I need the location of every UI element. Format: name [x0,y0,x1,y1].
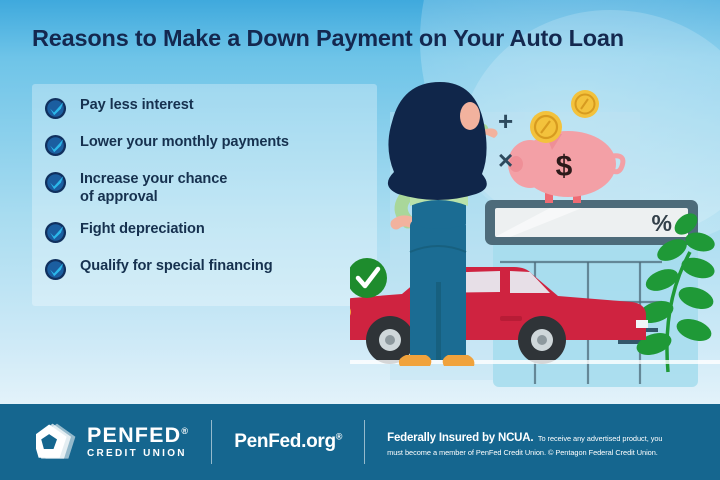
piggy-bank-symbol: $ [556,150,573,183]
footer-bar: PENFED® CREDIT UNION PenFed.org® Federal… [0,404,720,480]
list-item-label: Fight depreciation [80,220,205,238]
penfed-org-link[interactable]: PenFed.org® [234,431,342,453]
check-badge-icon [44,221,67,244]
list-item-label: Lower your monthly payments [80,133,289,151]
math-symbol-plus: + [498,106,513,136]
list-item: Increase your chance of approval [44,170,374,207]
disclaimer-line-2: must become a member of PenFed Credit Un… [387,448,662,458]
coin-icon [530,111,562,143]
list-item: Pay less interest [44,96,374,120]
list-item: Qualify for special financing [44,257,374,281]
list-item-label: Qualify for special financing [80,257,273,275]
footer-divider-2 [364,420,365,464]
ncua-disclaimer: Federally Insured by NCUA. To receive an… [387,426,662,458]
benefits-list: Pay less interest Lower your monthly pay… [44,96,374,294]
ncua-insured-text: Federally Insured by NCUA. [387,432,533,444]
list-item-label: Pay less interest [80,96,194,114]
check-badge-icon [44,97,67,120]
calculator-display-value: % [652,210,672,236]
list-item: Lower your monthly payments [44,133,374,157]
list-item-label: Increase your chance of approval [80,170,227,207]
penfed-pentagon-logo-icon [36,421,78,463]
check-badge-icon [44,171,67,194]
penfed-logo[interactable]: PENFED® CREDIT UNION [36,421,189,463]
footer-divider-1 [211,420,212,464]
penfed-tagline: CREDIT UNION [87,449,189,459]
coin-icon [571,90,599,118]
penfed-wordmark: PENFED® [87,425,189,447]
list-item: Fight depreciation [44,220,374,244]
math-symbol-multiply: × [498,145,513,175]
infographic-canvas: Reasons to Make a Down Payment on Your A… [0,0,720,480]
check-circle-icon [350,258,387,298]
page-title: Reasons to Make a Down Payment on Your A… [32,25,624,52]
check-badge-icon [44,134,67,157]
auto-loan-illustration: % $ [350,72,720,402]
check-badge-icon [44,258,67,281]
disclaimer-line-1: To receive any advertised product, you [538,434,663,443]
